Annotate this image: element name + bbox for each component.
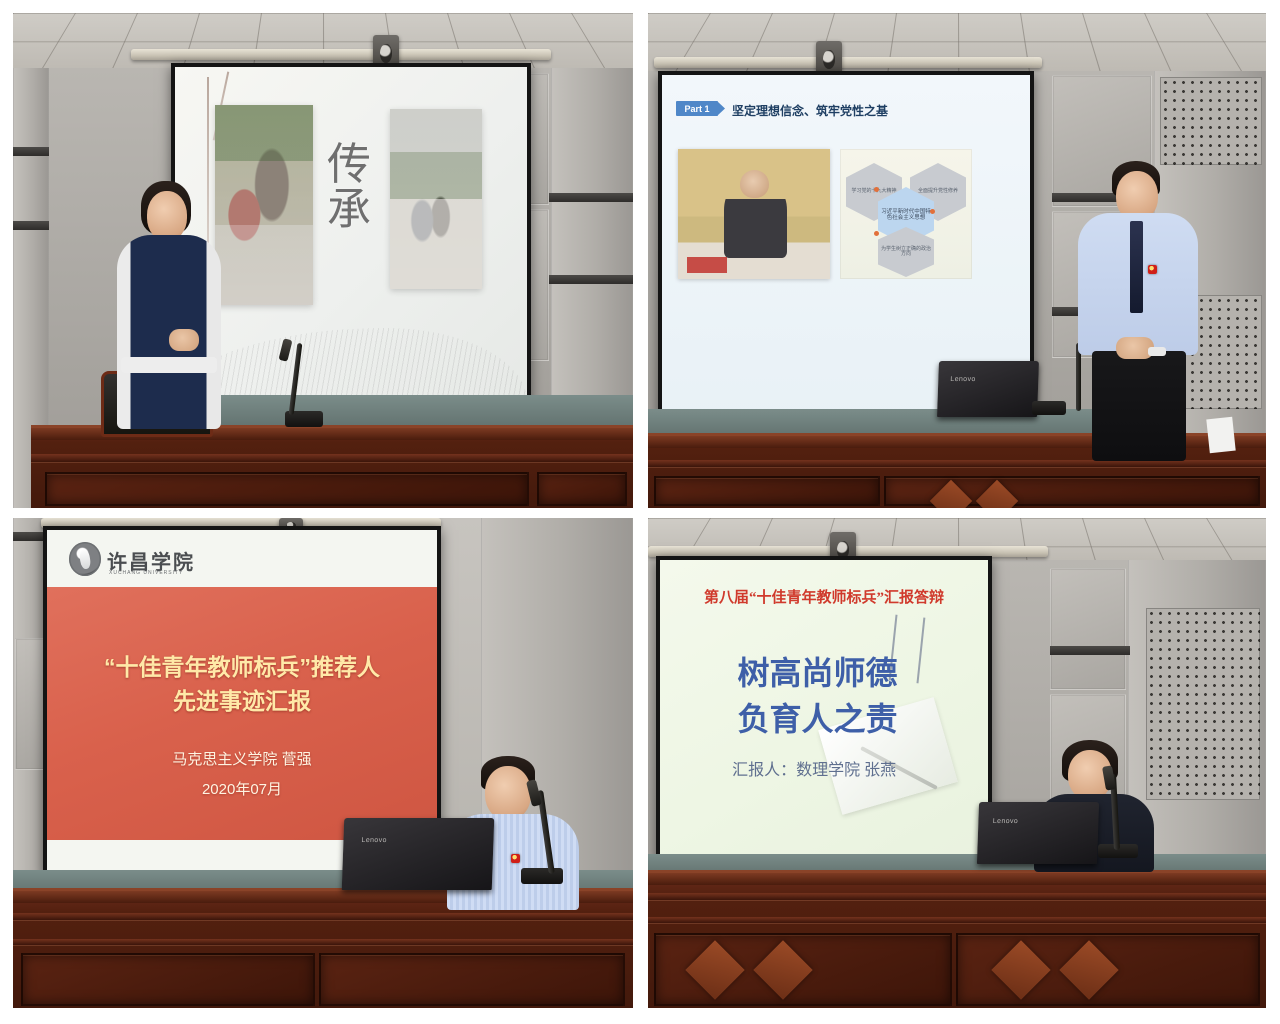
podium-rail: [31, 454, 633, 462]
laptop: Lenovo: [977, 802, 1099, 864]
slide-header-band: [47, 530, 437, 587]
slide-part-title: 坚定理想信念、筑牢党性之基: [732, 102, 888, 119]
wall-speaker-grille: [1146, 608, 1260, 800]
podium-rail-2: [13, 939, 633, 945]
necktie: [1130, 221, 1143, 313]
projection-screen: 传承: [175, 67, 527, 402]
slide-subtitle-line-1: 马克思主义学院 菅强: [47, 748, 437, 769]
podium-panel-left: [21, 953, 315, 1006]
presenter-remote: [1148, 347, 1166, 356]
hexagon-connector-dot-2: [930, 209, 935, 214]
podium-panel-left: [654, 933, 952, 1006]
university-logo-mark: [69, 542, 101, 576]
laptop-brand-label: Lenovo: [993, 818, 1019, 825]
slide-part-tag: Part 1: [676, 101, 718, 116]
slide-photo-head: [740, 170, 769, 199]
projection-screen: 第八届“十佳青年教师标兵”汇报答辩 树高尚师德 负育人之责 汇报人：数理学院 张…: [660, 560, 988, 856]
slide-photo-caption-bar: [687, 257, 727, 273]
podium-rail: [648, 460, 1266, 467]
podium-diamond-3: [991, 940, 1050, 999]
podium-rail-1: [648, 893, 1266, 900]
wall-panel-mid: [1050, 568, 1126, 690]
hexagon-connector-dot-1: [874, 187, 879, 192]
slide-title-line-1: 树高尚师德: [660, 648, 975, 694]
podium-top-edge: [648, 873, 1266, 885]
podium-diamond-2: [753, 940, 812, 999]
slide-photo-right: [390, 109, 482, 289]
slide-hexagon-diagram: 学习党的十九大精神 全面提升党性修养 习近平新时代中国特色社会主义思想 为学生树…: [840, 149, 972, 279]
podium-diamond-2: [976, 480, 1018, 508]
microphone-base: [1032, 401, 1066, 415]
podium-panel-right: [537, 472, 627, 506]
paper-on-desk: [1206, 417, 1235, 454]
screen-valance: [654, 57, 1042, 68]
podium-panel-right: [884, 476, 1260, 506]
podium-diamond-1: [685, 940, 744, 999]
wall-stripe-far-right: [549, 275, 633, 284]
podium-diamond-4: [1059, 940, 1118, 999]
collage-panel-bottom-left: 许昌学院 XUCHANG UNIVERSITY “十佳青年教师标兵”推荐人 先进…: [13, 518, 633, 1008]
collage-panel-bottom-right: 第八届“十佳青年教师标兵”汇报答辩 树高尚师德 负育人之责 汇报人：数理学院 张…: [648, 518, 1266, 1008]
slide-title-line-2: 负育人之责: [660, 694, 975, 740]
clasped-hands: [169, 329, 199, 351]
wall-stripe-left-upper: [13, 147, 49, 156]
slide-subtitle-line-2: 2020年07月: [47, 778, 437, 799]
party-badge: [511, 854, 520, 863]
screen-valance: [131, 49, 551, 60]
podium-diamond-1: [930, 480, 972, 508]
podium-panel-right: [956, 933, 1260, 1006]
projection-screen-frame: 传承: [171, 63, 531, 406]
podium-front: [31, 425, 633, 508]
presenter-figure: [117, 181, 221, 429]
wall-speaker-grille-upper: [1160, 77, 1262, 165]
collage-panel-top-right: Part 1 坚定理想信念、筑牢党性之基 学习党的十九大精神 全面提升党性修养 …: [648, 13, 1266, 508]
slide-chuancheng: 传承: [175, 67, 527, 402]
wave-decoration: [175, 328, 527, 402]
collage-panel-top-left: 传承: [13, 13, 633, 508]
podium-panel-right: [319, 953, 625, 1006]
laptop-brand-label: Lenovo: [361, 837, 387, 844]
hexagon-connector-dot-3: [874, 231, 879, 236]
slide-title-line-1: “十佳青年教师标兵”推荐人: [47, 648, 437, 682]
wall-stripe-right: [549, 193, 633, 202]
laptop: Lenovo: [937, 361, 1039, 417]
slide-photo-left: [215, 105, 313, 305]
slide-title-line-2: 先进事迹汇报: [47, 682, 437, 716]
party-badge: [1148, 265, 1157, 274]
microphone-base: [521, 868, 563, 884]
slide-subtitle: 汇报人：数理学院 张燕: [660, 756, 968, 780]
wall-stripe-right: [1050, 646, 1130, 655]
trousers: [1092, 351, 1186, 461]
podium-rail-2: [648, 917, 1266, 923]
projection-screen-frame: 第八届“十佳青年教师标兵”汇报答辩 树高尚师德 负育人之责 汇报人：数理学院 张…: [656, 556, 992, 860]
laptop-brand-label: Lenovo: [950, 376, 976, 383]
slide-header: 第八届“十佳青年教师标兵”汇报答辩: [660, 586, 988, 607]
podium-rail-1: [13, 913, 633, 920]
slide-photo: [678, 149, 830, 279]
podium-panel-left: [45, 472, 529, 506]
presenter-figure: [1078, 161, 1198, 461]
university-logo-en: XUCHANG UNIVERSITY: [109, 570, 183, 576]
podium-panel-left: [654, 476, 880, 506]
slide-title-shigao: 第八届“十佳青年教师标兵”汇报答辩 树高尚师德 负育人之责 汇报人：数理学院 张…: [660, 560, 988, 856]
laptop: Lenovo: [342, 818, 495, 890]
head: [485, 766, 531, 820]
head: [147, 191, 187, 241]
wall-stripe-left-lower: [13, 221, 49, 230]
slide-calligraphy-title: 传承: [327, 143, 387, 233]
torso-hem: [121, 357, 217, 373]
podium-front: [648, 870, 1266, 1008]
photo-collage: 传承: [0, 0, 1280, 1024]
torso: [117, 235, 221, 429]
